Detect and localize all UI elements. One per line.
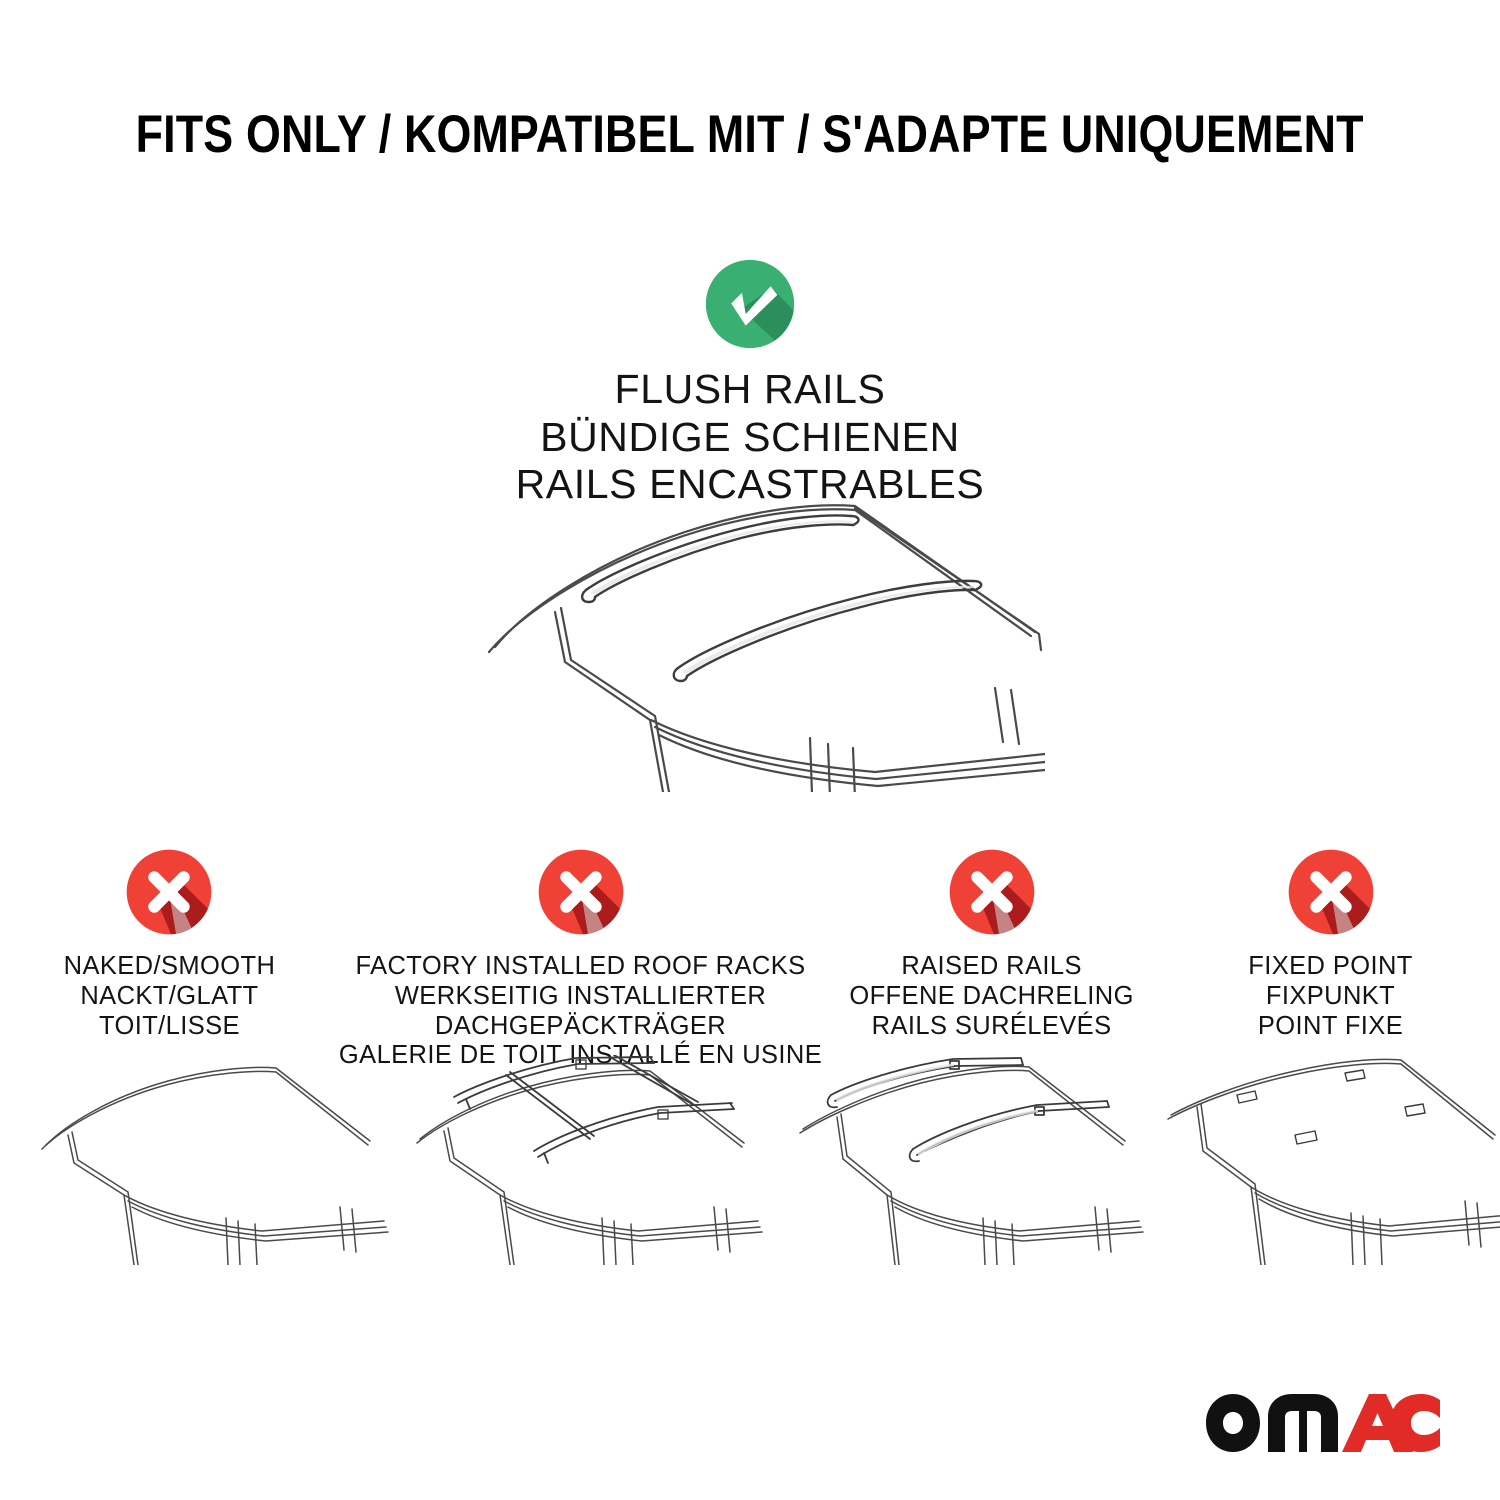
omac-logo — [1202, 1390, 1444, 1456]
car-roof-naked-illustration — [40, 1055, 392, 1265]
car-roof-fixed-point-illustration — [1165, 1055, 1500, 1265]
exclusion-labels: NAKED/SMOOTH NACKT/GLATT TOIT/LISSE — [64, 952, 276, 1041]
exclusion-labels: FACTORY INSTALLED ROOF RACKS WERKSEITIG … — [339, 952, 822, 1071]
exclusion-column-naked-smooth: NAKED/SMOOTH NACKT/GLATT TOIT/LISSE — [0, 846, 339, 1041]
exclusion-label-de-2: DACHGEPÄCKTRÄGER — [339, 1012, 822, 1042]
exclusion-label-fr: POINT FIXE — [1248, 1012, 1413, 1042]
compatible-section: FLUSH RAILS BÜNDIGE SCHIENEN RAILS ENCAS… — [0, 256, 1500, 509]
compatible-label-de: BÜNDIGE SCHIENEN — [0, 414, 1500, 462]
compatible-label-en: FLUSH RAILS — [0, 366, 1500, 414]
compatible-labels: FLUSH RAILS BÜNDIGE SCHIENEN RAILS ENCAS… — [0, 366, 1500, 509]
exclusion-label-de: NACKT/GLATT — [64, 982, 276, 1012]
cross-circle-icon — [123, 846, 215, 938]
cross-circle-icon — [535, 846, 627, 938]
exclusion-label-fr: RAILS SURÉLEVÉS — [849, 1012, 1134, 1042]
exclusion-column-raised-rails: RAISED RAILS OFFENE DACHRELING RAILS SUR… — [822, 846, 1161, 1041]
page-title: FITS ONLY / KOMPATIBEL MIT / S'ADAPTE UN… — [136, 104, 1364, 165]
exclusion-label-en: RAISED RAILS — [849, 952, 1134, 982]
exclusion-label-fr: TOIT/LISSE — [64, 1012, 276, 1042]
exclusion-label-en: FACTORY INSTALLED ROOF RACKS — [339, 952, 822, 982]
exclusion-label-de: OFFENE DACHRELING — [849, 982, 1134, 1012]
car-roof-factory-racks-illustration — [414, 1055, 766, 1265]
cross-circle-icon — [1285, 846, 1377, 938]
logo-letter-o — [1206, 1394, 1260, 1452]
exclusion-label-de-1: WERKSEITIG INSTALLIERTER — [339, 982, 822, 1012]
header: FITS ONLY / KOMPATIBEL MIT / S'ADAPTE UN… — [0, 104, 1500, 165]
exclusion-labels: RAISED RAILS OFFENE DACHRELING RAILS SUR… — [849, 952, 1134, 1041]
exclusion-label-en: FIXED POINT — [1248, 952, 1413, 982]
incompatible-section: NAKED/SMOOTH NACKT/GLATT TOIT/LISSE FACT… — [0, 846, 1500, 1071]
exclusion-labels: FIXED POINT FIXPUNKT POINT FIXE — [1248, 952, 1413, 1041]
exclusion-column-factory-roof-racks: FACTORY INSTALLED ROOF RACKS WERKSEITIG … — [339, 846, 822, 1071]
car-roof-raised-rails-illustration — [795, 1055, 1147, 1265]
check-circle-icon — [702, 256, 798, 352]
exclusion-label-de: FIXPUNKT — [1248, 982, 1413, 1012]
exclusion-column-fixed-point: FIXED POINT FIXPUNKT POINT FIXE — [1161, 846, 1500, 1041]
exclusion-label-en: NAKED/SMOOTH — [64, 952, 276, 982]
car-roof-flush-rails-illustration — [455, 492, 1045, 792]
cross-circle-icon — [946, 846, 1038, 938]
logo-letter-m — [1268, 1394, 1338, 1452]
